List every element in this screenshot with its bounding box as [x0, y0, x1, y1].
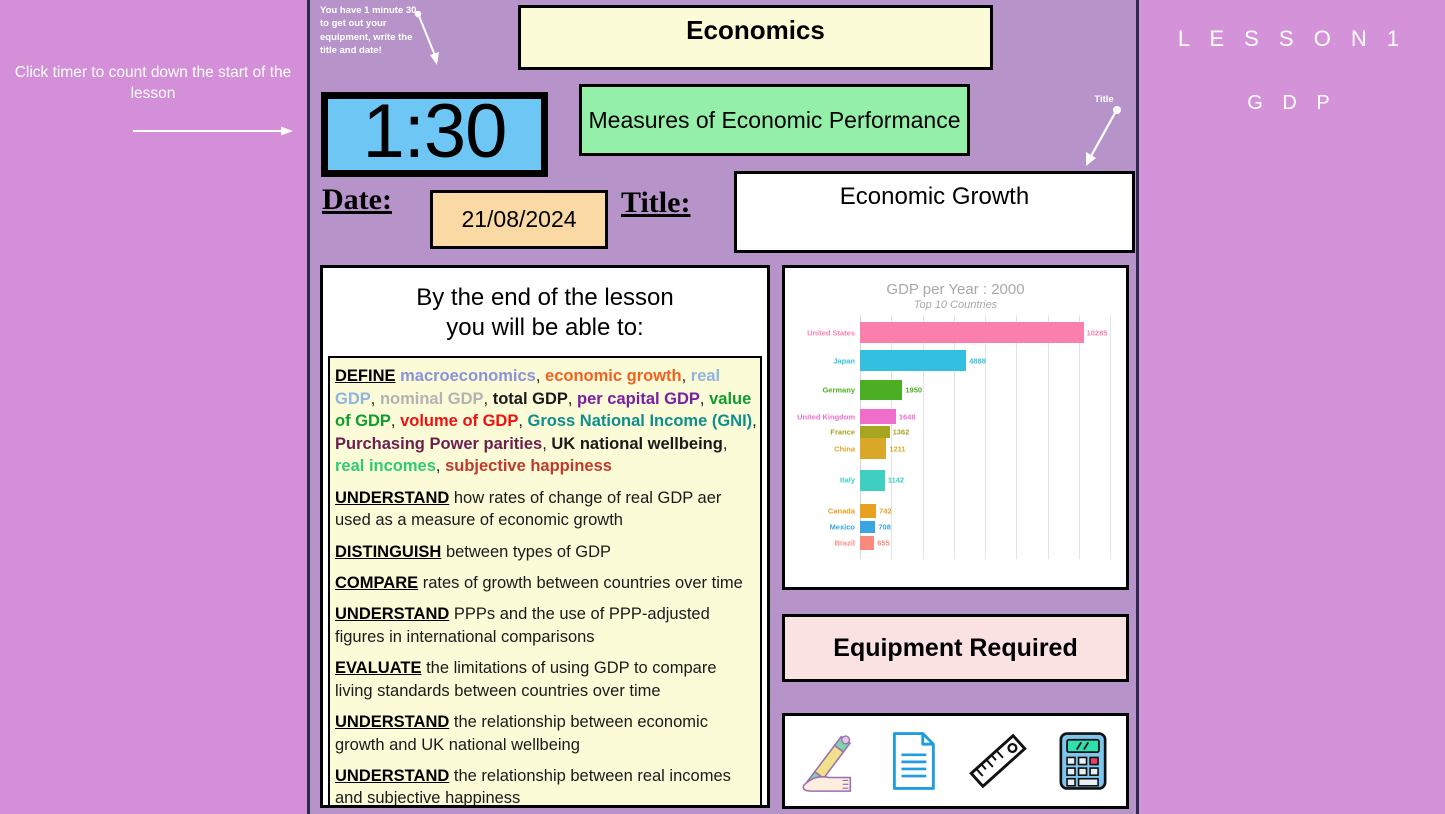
equipment-required-box: Equipment Required [782, 614, 1129, 682]
objective-keyword: per capital GDP [577, 390, 700, 408]
objective-verb: UNDERSTAND [335, 605, 449, 623]
objectives-list: DEFINE macroeconomics, economic growth, … [328, 356, 762, 807]
chart-bar [860, 409, 896, 424]
objective-keyword: Purchasing Power parities [335, 435, 542, 453]
objective-item: DISTINGUISH between types of GDP [335, 541, 758, 563]
chart-bar-row: Mexico708 [860, 521, 1110, 533]
chart-bar [860, 536, 874, 550]
chart-category-label: Canada [828, 506, 855, 515]
chart-bar [860, 380, 902, 401]
chart-value-label: 4888 [966, 356, 986, 365]
right-arrow-icon [133, 125, 293, 137]
calculator-icon [1048, 724, 1118, 798]
objectives-heading-line1: By the end of the lesson [328, 283, 762, 313]
chart-title: GDP per Year : 2000 [785, 281, 1126, 298]
countdown-timer[interactable]: 1:30 [321, 92, 548, 177]
chart-bar-row: Canada742 [860, 504, 1110, 517]
objective-verb: DEFINE [335, 367, 396, 385]
right-lesson-panel: L E S S O N 1 G D P [1139, 0, 1445, 814]
chart-value-label: 10285 [1084, 328, 1108, 337]
lesson-number-label: L E S S O N 1 [1139, 26, 1445, 52]
date-box: 21/08/2024 [430, 190, 608, 249]
chart-value-label: 1648 [896, 412, 916, 421]
chart-value-label: 1211 [886, 444, 905, 453]
ruler-icon [963, 724, 1033, 798]
objective-verb: EVALUATE [335, 659, 421, 677]
topic-title: Measures of Economic Performance [589, 106, 961, 134]
objective-keyword: total GDP [493, 390, 568, 408]
title-label: Title: [621, 186, 690, 220]
chart-bar-row: United States10285 [860, 322, 1110, 343]
objective-item: UNDERSTAND the relationship between econ… [335, 711, 758, 756]
chart-bar [860, 438, 886, 459]
gdp-chart-panel: GDP per Year : 2000 Top 10 Countries Uni… [782, 265, 1129, 590]
subject-box: Economics [518, 5, 993, 70]
subject-title: Economics [686, 15, 825, 67]
equipment-icons-row [782, 713, 1129, 809]
chart-category-label: United States [807, 328, 855, 337]
objective-keyword: UK national wellbeing [551, 435, 722, 453]
objective-item: COMPARE rates of growth between countrie… [335, 572, 758, 594]
objective-keyword: volume of GDP [400, 412, 518, 430]
chart-category-label: China [834, 444, 855, 453]
objective-item: DEFINE macroeconomics, economic growth, … [335, 365, 758, 477]
click-timer-instruction: Click timer to count down the start of t… [6, 62, 300, 105]
title-pointer-arrow-icon [1075, 92, 1141, 170]
chart-category-label: Germany [822, 386, 855, 395]
objective-keyword: real incomes [335, 457, 436, 475]
objective-text: between types of GDP [446, 543, 611, 561]
chart-bar-row: Italy1142 [860, 470, 1110, 491]
objective-verb: UNDERSTAND [335, 713, 449, 731]
objective-keyword: nominal GDP [380, 390, 484, 408]
chart-value-label: 1362 [890, 428, 910, 437]
chart-bar [860, 322, 1084, 343]
chart-bar [860, 350, 966, 371]
chart-value-label: 1142 [885, 476, 904, 485]
timer-pointer-arrow-icon [410, 8, 450, 66]
objective-keyword: subjective happiness [445, 457, 612, 475]
objectives-panel: By the end of the lesson you will be abl… [320, 265, 770, 808]
chart-category-label: United Kingdom [797, 412, 855, 421]
chart-bar-row: China1211 [860, 438, 1110, 459]
chart-gridline [1110, 315, 1111, 559]
chart-category-label: Mexico [830, 523, 855, 532]
objective-item: UNDERSTAND how rates of change of real G… [335, 487, 758, 532]
objective-item: UNDERSTAND PPPs and the use of PPP-adjus… [335, 603, 758, 648]
objective-keyword: economic growth [545, 367, 682, 385]
objective-keyword: Gross National Income (GNI) [528, 412, 753, 430]
topic-box: Measures of Economic Performance [579, 84, 970, 156]
chart-plot-area: United States10285Japan4888Germany1950Un… [860, 315, 1110, 559]
chart-bar-row: United Kingdom1648 [860, 409, 1110, 424]
objectives-heading: By the end of the lesson you will be abl… [328, 274, 762, 356]
objective-item: EVALUATE the limitations of using GDP to… [335, 657, 758, 702]
slide-deck-root: Click timer to count down the start of t… [0, 0, 1445, 814]
chart-bar [860, 521, 875, 533]
document-paper-icon [878, 724, 948, 798]
objective-verb: UNDERSTAND [335, 767, 449, 785]
chart-value-label: 708 [875, 523, 891, 532]
objective-item: UNDERSTAND the relationship between real… [335, 765, 758, 807]
chart-value-label: 655 [874, 538, 890, 547]
chart-category-label: Italy [840, 476, 855, 485]
date-value: 21/08/2024 [461, 206, 576, 233]
objective-verb: DISTINGUISH [335, 543, 441, 561]
chart-category-label: Japan [833, 356, 855, 365]
chart-bar [860, 504, 876, 517]
date-label: Date: [322, 183, 392, 217]
chart-category-label: France [830, 428, 855, 437]
lesson-title-value: Economic Growth [840, 183, 1029, 250]
objectives-heading-line2: you will be able to: [328, 313, 762, 343]
objective-keyword: macroeconomics [400, 367, 536, 385]
chart-value-label: 742 [876, 506, 892, 515]
chart-value-label: 1950 [902, 386, 922, 395]
lesson-title-box: Economic Growth [734, 171, 1135, 253]
chart-bar-row: Japan4888 [860, 350, 1110, 371]
lesson-topic-label: G D P [1139, 92, 1445, 115]
chart-category-label: Brazil [835, 538, 855, 547]
objective-verb: COMPARE [335, 574, 418, 592]
chart-bar [860, 426, 890, 438]
chart-bar-row: Germany1950 [860, 380, 1110, 401]
left-instruction-panel: Click timer to count down the start of t… [0, 0, 306, 814]
chart-bar [860, 470, 885, 491]
chart-bar-row: France1362 [860, 426, 1110, 438]
chart-bar-row: Brazil655 [860, 536, 1110, 550]
objective-verb: UNDERSTAND [335, 489, 449, 507]
chart-subtitle: Top 10 Countries [785, 299, 1126, 311]
hand-writing-pen-icon [793, 724, 863, 798]
gdp-chart: GDP per Year : 2000 Top 10 Countries Uni… [785, 268, 1126, 587]
timer-value: 1:30 [363, 94, 507, 170]
objective-text: rates of growth between countries over t… [423, 574, 743, 592]
lesson-slide: You have 1 minute 30 to get out your equ… [307, 0, 1139, 814]
equipment-required-heading: Equipment Required [833, 634, 1077, 663]
